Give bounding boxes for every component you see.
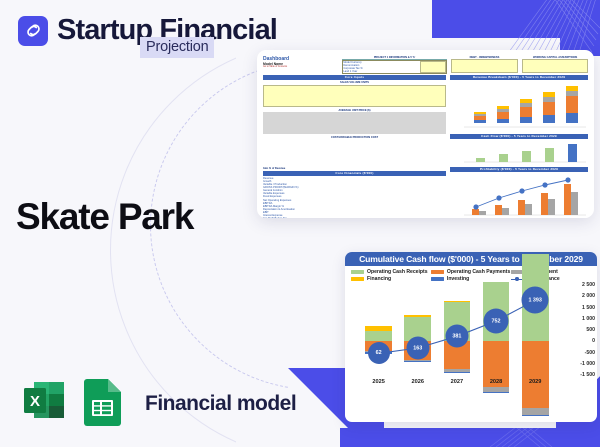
format-footer: X Financial model: [18, 375, 296, 432]
chart-plot-area: 2 500 2 000 1 500 1 000 500 0 -500 -1 00…: [345, 285, 597, 395]
legend-label: Investing: [447, 276, 469, 282]
spiral-logo-icon: [18, 16, 48, 46]
legend-label: Financing: [367, 276, 391, 282]
legend-swatch: [431, 277, 444, 280]
x-tick: 2025: [372, 379, 384, 385]
svg-text:X: X: [30, 393, 40, 410]
y-tick: -1 000: [580, 361, 595, 367]
top-right-line-pattern: [500, 0, 600, 56]
chart-legend: Operating Cash Receipts Operating Cash P…: [345, 266, 597, 284]
x-tick: 2027: [451, 379, 463, 385]
bottom-blue-band: [340, 428, 600, 447]
band-profitability: Profitability ($'000) - 5 Years to Decem…: [450, 167, 588, 172]
data-label-2029: 1 393: [522, 287, 549, 314]
legend-label: Operating Cash Receipts: [367, 269, 428, 275]
mini-chart-revenue-breakdown: [450, 82, 588, 132]
bar-seg-investing: [483, 392, 510, 393]
band-cash-flow: Cash Flow ($'000) - 5 Years to December …: [450, 134, 588, 139]
projection-chip: Projection: [140, 37, 214, 58]
x-tick: 2028: [490, 379, 502, 385]
y-tick: 500: [586, 327, 595, 333]
mini-chart-profitability: [450, 174, 588, 218]
y-tick: 2 500: [582, 282, 595, 288]
chart-bars: 62 163 381 752 1 393: [357, 285, 563, 375]
mini-cashflow-chart-svg: [450, 140, 588, 166]
band-core-inputs: Core Inputs: [263, 75, 446, 80]
data-label-2026: 163: [406, 337, 429, 360]
y-tick: -1 500: [580, 372, 595, 378]
dashboard-preview-content: Dashboard Model Name Go to Table of Cont…: [257, 50, 594, 218]
legend-item-operating-cash-receipts[interactable]: Operating Cash Receipts: [351, 269, 431, 275]
x-axis-labels: 2025 2026 2027 2028 2029: [357, 379, 563, 391]
y-tick: 2 000: [582, 293, 595, 299]
y-axis-labels: 2 500 2 000 1 500 1 000 500 0 -500 -1 00…: [565, 285, 595, 375]
field-label: Land 1 Year: [343, 70, 419, 73]
y-tick: 1 500: [582, 305, 595, 311]
y-tick: 0: [592, 338, 595, 344]
legend-swatch: [351, 277, 364, 280]
mini-profitability-chart-svg: [450, 174, 588, 218]
band-variable-cost: COST/VARIABLE PRODUCTION COST: [263, 136, 446, 139]
mini-chart-cash-flow: [450, 140, 588, 166]
y-tick: -500: [585, 350, 595, 356]
chart-title: Cumulative Cash flow ($'000) - 5 Years t…: [345, 252, 597, 266]
legend-item-financing[interactable]: Financing: [351, 276, 431, 282]
legend-swatch: [431, 270, 444, 273]
cumulative-cashflow-card[interactable]: Cumulative Cash flow ($'000) - 5 Years t…: [345, 252, 597, 422]
footer-label: Financial model: [145, 392, 296, 416]
data-label-2027: 381: [445, 325, 468, 348]
band-revenue-breakdown: Revenue Breakdown ($'000) - 5 Years to D…: [450, 75, 588, 80]
data-label-2028: 752: [484, 309, 509, 334]
legend-item-operating-cash-payments[interactable]: Operating Cash Payments: [431, 269, 511, 275]
dashboard-preview-card[interactable]: Dashboard Model Name Go to Table of Cont…: [257, 50, 594, 218]
bar-seg-tax: [522, 408, 549, 416]
bar-seg-investing: [522, 415, 549, 416]
band-core-financials: Core Financials ($'000): [263, 171, 446, 176]
data-label-2025: 62: [368, 342, 390, 364]
x-tick: 2026: [412, 379, 424, 385]
x-tick: 2029: [529, 379, 541, 385]
pl-row: Net Profit Before Tax: [263, 217, 446, 218]
legend-label: Operating Cash Payments: [447, 269, 510, 275]
line-pattern-svg: [500, 0, 600, 56]
page-title: Skate Park: [16, 196, 193, 238]
mini-revenue-chart-svg: [450, 82, 588, 132]
excel-file-icon: X: [18, 375, 70, 432]
bottom-band-pattern: [340, 428, 600, 447]
google-sheets-icon: [81, 375, 127, 432]
dashboard-toc-link[interactable]: Go to Table of Contents: [263, 66, 338, 68]
spiral-glyph: [24, 21, 43, 40]
y-tick: 1 000: [582, 316, 595, 322]
legend-swatch: [351, 270, 364, 273]
